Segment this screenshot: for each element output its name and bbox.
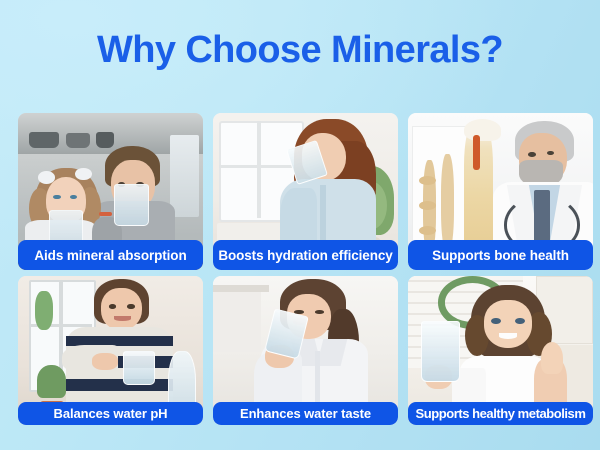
benefit-card-supports-healthy-metabolism[interactable]: Supports healthy metabolism bbox=[408, 276, 593, 425]
benefit-card-enhances-water-taste[interactable]: Enhances water taste bbox=[213, 276, 398, 425]
benefit-label: Supports bone health bbox=[408, 240, 593, 270]
benefit-label: Enhances water taste bbox=[213, 402, 398, 425]
page-title: Why Choose Minerals? bbox=[0, 27, 600, 73]
benefit-card-balances-water-ph[interactable]: Balances water pH bbox=[18, 276, 203, 425]
benefit-label: Balances water pH bbox=[18, 402, 203, 425]
benefit-card-boosts-hydration-efficiency[interactable]: Boosts hydration efficiency bbox=[213, 113, 398, 270]
benefit-label: Supports healthy metabolism bbox=[408, 402, 593, 425]
benefit-card-supports-bone-health[interactable]: Supports bone health bbox=[408, 113, 593, 270]
benefit-label: Boosts hydration efficiency bbox=[213, 240, 398, 270]
benefit-card-aids-mineral-absorption[interactable]: Aids mineral absorption bbox=[18, 113, 203, 270]
minerals-benefits-banner: Why Choose Minerals? Aids mineral absorp… bbox=[0, 0, 600, 450]
benefit-label: Aids mineral absorption bbox=[18, 240, 203, 270]
benefits-grid: Aids mineral absorption Boosts hydration… bbox=[18, 113, 583, 425]
